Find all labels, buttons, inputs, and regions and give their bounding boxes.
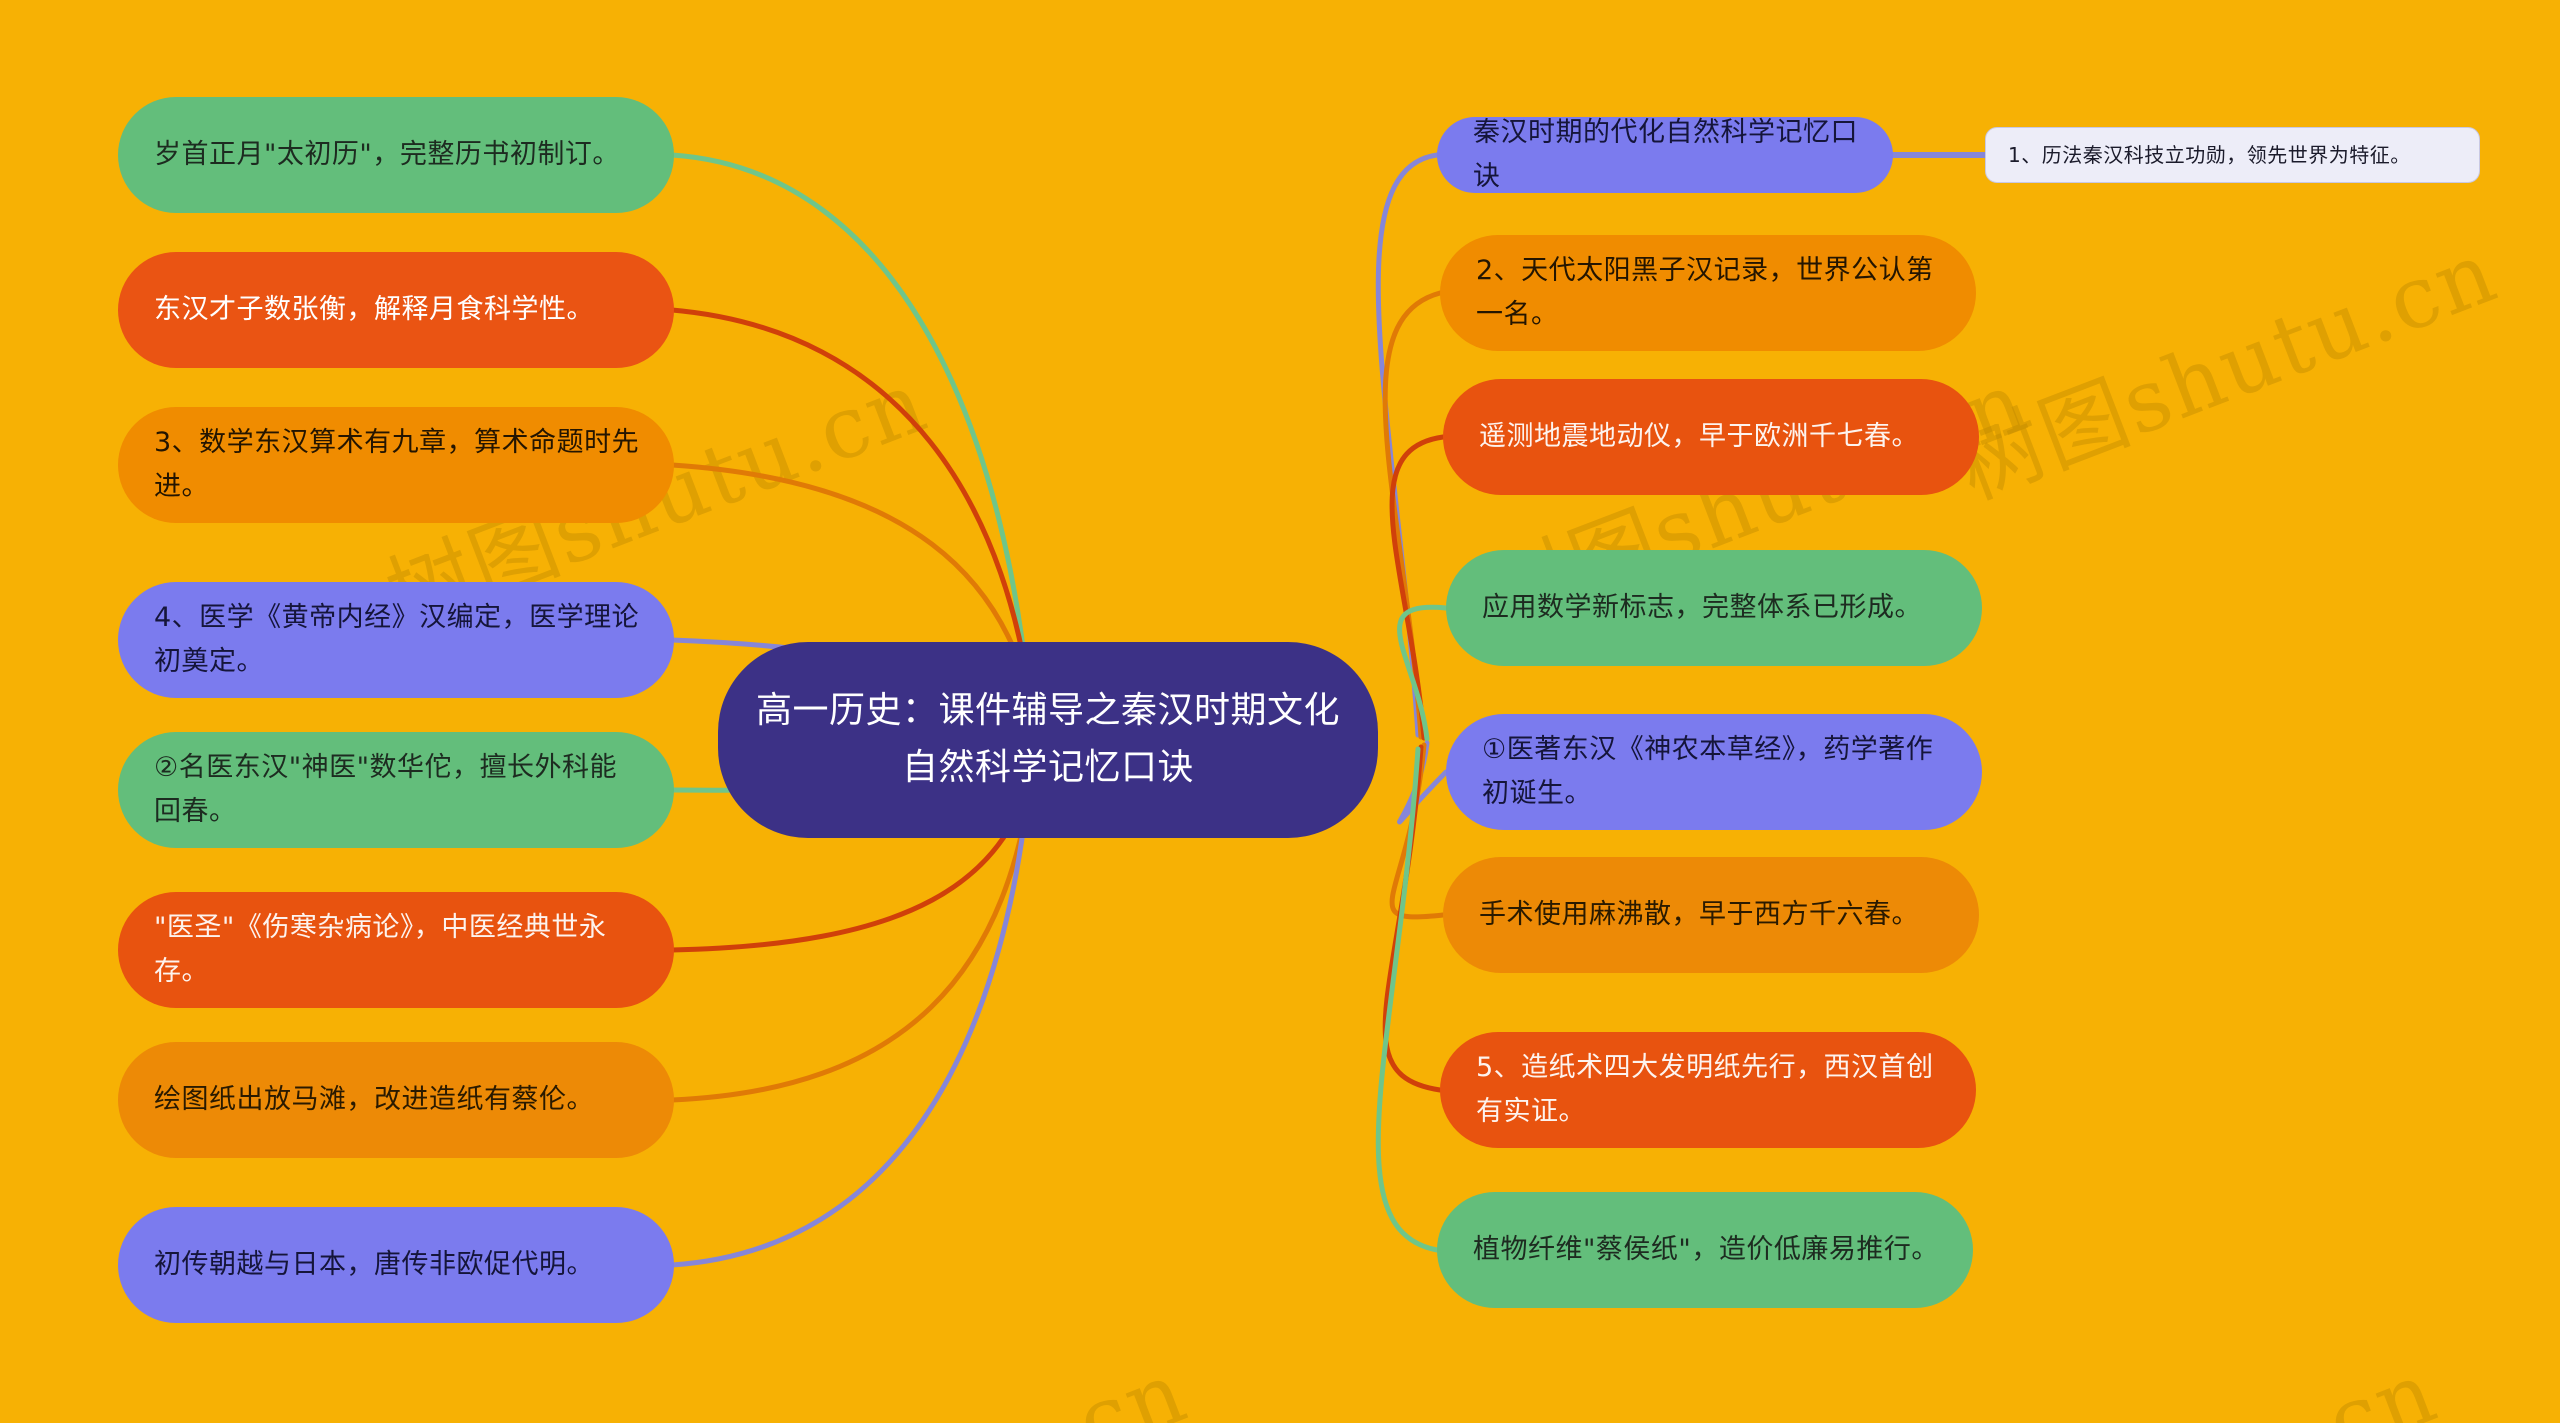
branch-node-right-6[interactable]: 手术使用麻沸散，早于西方千六春。 — [1443, 857, 1979, 973]
connector-right-8 — [1378, 749, 1437, 1250]
root-node-label: 高一历史：课件辅导之秦汉时期文化自然科学记忆口诀 — [752, 683, 1344, 797]
branch-node-left-8[interactable]: 初传朝越与日本，唐传非欧促代明。 — [118, 1207, 674, 1323]
branch-node-label: 5、造纸术四大发明纸先行，西汉首创有实证。 — [1476, 1046, 1942, 1133]
watermark: 树图shutu.cn — [1936, 202, 2511, 522]
branch-node-left-2[interactable]: 东汉才子数张衡，解释月食科学性。 — [118, 252, 674, 368]
connector-right-5 — [1400, 743, 1446, 822]
branch-node-left-6[interactable]: "医圣"《伤寒杂病论》，中医经典世永存。 — [118, 892, 674, 1008]
branch-node-label: 东汉才子数张衡，解释月食科学性。 — [154, 288, 640, 332]
connector-right-7 — [1385, 747, 1440, 1090]
branch-node-left-4[interactable]: 4、医学《黄帝内经》汉编定，医学理论初奠定。 — [118, 582, 674, 698]
branch-node-label: ②名医东汉"神医"数华佗，擅长外科能回春。 — [154, 746, 640, 833]
branch-node-label: "医圣"《伤寒杂病论》，中医经典世永存。 — [154, 906, 640, 993]
branch-node-right-8[interactable]: 植物纤维"蔡侯纸"，造价低廉易推行。 — [1437, 1192, 1973, 1308]
watermark: 树图shutu.cn — [626, 1322, 1201, 1423]
branch-node-label: 遥测地震地动仪，早于欧洲千七春。 — [1479, 415, 1945, 459]
branch-node-right-4[interactable]: 应用数学新标志，完整体系已形成。 — [1446, 550, 1982, 666]
leaf-note-label: 1、历法秦汉科技立功勋，领先世界为特征。 — [2008, 141, 2457, 169]
branch-node-label: 植物纤维"蔡侯纸"，造价低廉易推行。 — [1473, 1228, 1939, 1272]
branch-node-right-1[interactable]: 秦汉时期的代化自然科学记忆口诀 — [1437, 117, 1893, 193]
branch-node-label: ①医著东汉《神农本草经》，药学著作初诞生。 — [1482, 728, 1948, 815]
mindmap-canvas: 树图shutu.cn 树图shutu.cn 树图shutu.cn 树图shutu… — [0, 0, 2560, 1423]
branch-node-label: 手术使用麻沸散，早于西方千六春。 — [1479, 893, 1945, 937]
branch-node-label: 4、医学《黄帝内经》汉编定，医学理论初奠定。 — [154, 596, 640, 683]
branch-node-left-7[interactable]: 绘图纸出放马滩，改进造纸有蔡伦。 — [118, 1042, 674, 1158]
branch-node-label: 应用数学新标志，完整体系已形成。 — [1482, 586, 1948, 630]
branch-node-label: 3、数学东汉算术有九章，算术命题时先进。 — [154, 421, 640, 508]
branch-node-label: 2、天代太阳黑子汉记录，世界公认第一名。 — [1476, 249, 1942, 336]
root-node[interactable]: 高一历史：课件辅导之秦汉时期文化自然科学记忆口诀 — [718, 642, 1378, 838]
branch-node-label: 秦汉时期的代化自然科学记忆口诀 — [1473, 111, 1859, 198]
branch-node-label: 初传朝越与日本，唐传非欧促代明。 — [154, 1243, 640, 1287]
branch-node-label: 绘图纸出放马滩，改进造纸有蔡伦。 — [154, 1078, 640, 1122]
connector-right-4 — [1400, 607, 1446, 739]
branch-node-left-5[interactable]: ②名医东汉"神医"数华佗，擅长外科能回春。 — [118, 732, 674, 848]
leaf-note-right-1-1[interactable]: 1、历法秦汉科技立功勋，领先世界为特征。 — [1985, 127, 2480, 183]
branch-node-label: 岁首正月"太初历"，完整历书初制订。 — [154, 133, 640, 177]
watermark: 树图shutu.cn — [1876, 1322, 2451, 1423]
branch-node-left-1[interactable]: 岁首正月"太初历"，完整历书初制订。 — [118, 97, 674, 213]
connector-right-1 — [1378, 155, 1437, 735]
connector-right-6 — [1392, 745, 1443, 917]
branch-node-right-3[interactable]: 遥测地震地动仪，早于欧洲千七春。 — [1443, 379, 1979, 495]
branch-node-left-3[interactable]: 3、数学东汉算术有九章，算术命题时先进。 — [118, 407, 674, 523]
branch-node-right-5[interactable]: ①医著东汉《神农本草经》，药学著作初诞生。 — [1446, 714, 1982, 830]
branch-node-right-2[interactable]: 2、天代太阳黑子汉记录，世界公认第一名。 — [1440, 235, 1976, 351]
connector-right-3 — [1392, 437, 1443, 738]
connector-right-2 — [1385, 293, 1440, 737]
branch-node-right-7[interactable]: 5、造纸术四大发明纸先行，西汉首创有实证。 — [1440, 1032, 1976, 1148]
